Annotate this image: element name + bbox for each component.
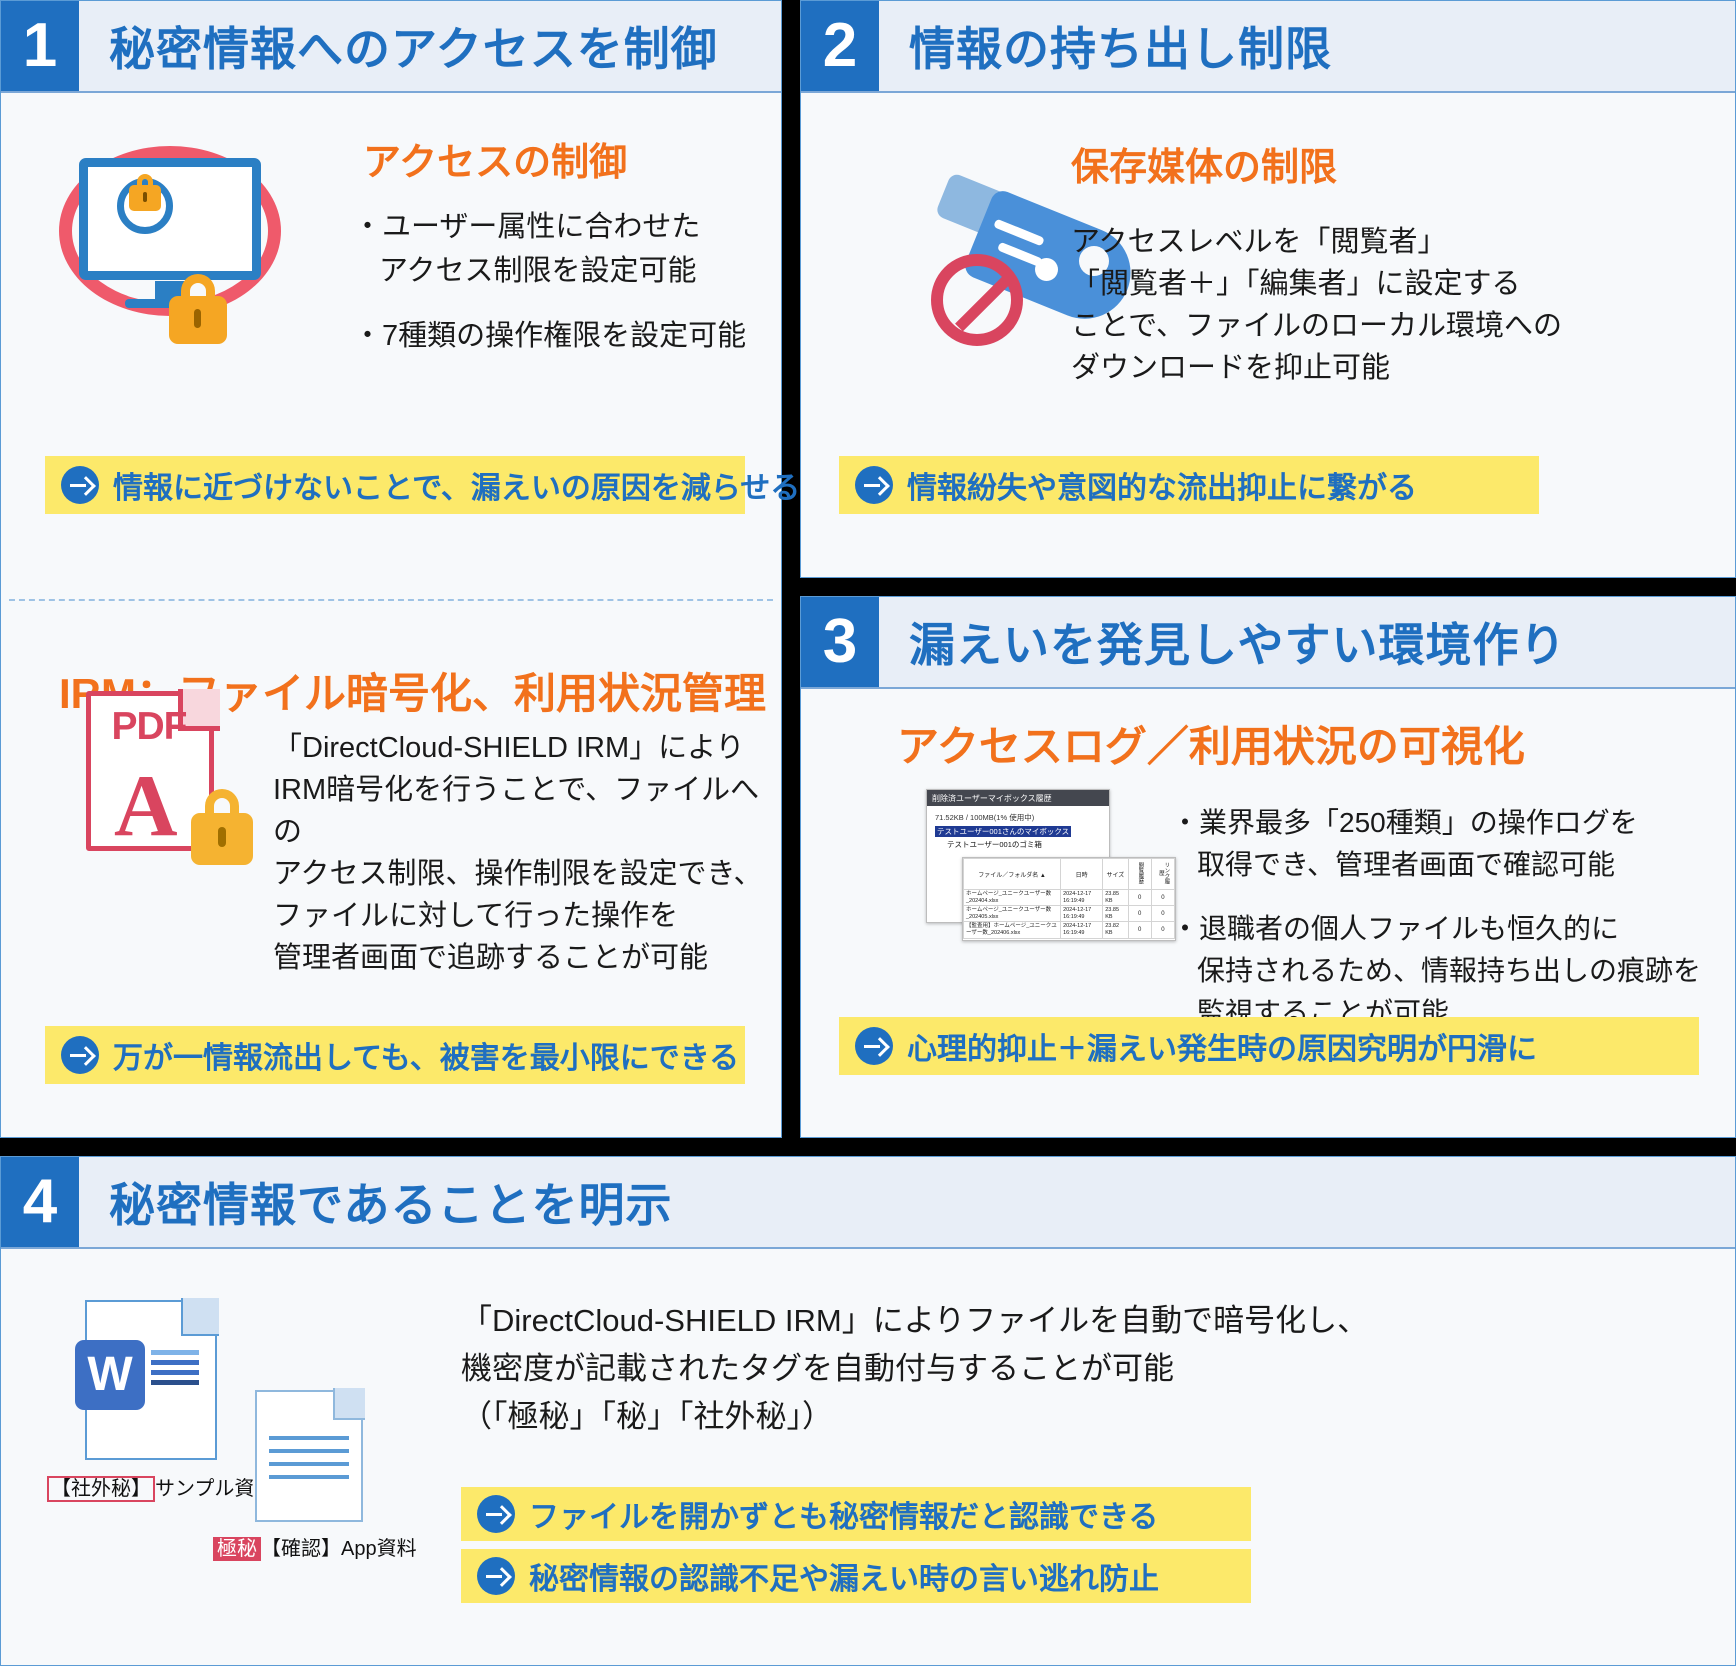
body-line: アクセスレベルを「閲覧者」 [1071,221,1631,263]
body-line: アクセス制限、操作制限を設定でき、 [273,853,773,895]
body-line: ダウンロードを抑止可能 [1071,347,1631,389]
panel-2-header: 2 情報の持ち出し制限 [801,1,1735,93]
panel-1a-callout: 情報に近づけないことで、漏えいの原因を減らせる [45,456,745,514]
section-divider [9,599,773,601]
bullet-line: ・業界最多「250種類」の操作ログを [1171,807,1638,838]
panel-1: 1 秘密情報へのアクセスを制御 アクセスの制御 ・ユーザー属性に合わせた アクセ… [0,0,782,1138]
col-date: 日時 [1061,859,1103,890]
document-2-caption: 極秘【確認】App資料 [213,1532,417,1561]
body-line: IRM暗号化を行うことで、ファイルへの [273,769,773,853]
body-line: 「DirectCloud-SHIELD IRM」によりファイルを自動で暗号化し、 [461,1297,1561,1345]
panel-3-callout-text: 心理的抑止＋漏えい発生時の原因究明が円滑に [907,1024,1537,1068]
lock-large-icon [169,296,227,344]
section-1b-body: 「DirectCloud-SHIELD IRM」により IRM暗号化を行うことで… [273,727,773,979]
bullet-line: ・ユーザー属性に合わせた [353,211,700,243]
bullet-item: ・退職者の個人ファイルも恒久的に 保持されるため、情報持ち出しの痕跡を 監視する… [1171,908,1721,1034]
panel-4-header: 4 秘密情報であることを明示 [1,1157,1735,1249]
cell-date: 2024-12-17 16:19:49 [1061,906,1103,922]
panel-3-callout: 心理的抑止＋漏えい発生時の原因究明が円滑に [839,1017,1699,1075]
panel-2-callout-text: 情報紛失や意図的な流出抑止に繋がる [907,463,1417,507]
body-line: ファイルに対して行った操作を [273,895,773,937]
pdf-glyph: A [114,763,178,851]
panel-2-body: アクセスレベルを「閲覧者」 「閲覧者＋」「編集者」に設定する ことで、ファイルの… [1071,221,1631,389]
cell-size: 23.85 KB [1103,906,1128,922]
panel-4-callout-2: 秘密情報の認識不足や漏えい時の言い逃れ防止 [461,1549,1251,1603]
bullet-line: 取得でき、管理者画面で確認可能 [1171,844,1721,886]
cell-name: ホームページ_ユニークユーザー数_202404.xlsx [964,890,1061,906]
body-line: （「極秘」「秘」「社外秘」） [461,1393,1561,1441]
cell-views: 0 [1128,906,1151,922]
body-line: 「DirectCloud-SHIELD IRM」により [273,727,773,769]
text-line [269,1449,349,1453]
confidential-tag: 【社外秘】 [47,1476,155,1502]
app-document-illustration: 極秘【確認】App資料 [255,1390,435,1570]
panel-3-bullets: ・業界最多「250種類」の操作ログを 取得でき、管理者画面で確認可能 ・退職者の… [1171,802,1721,1048]
panel-4-callouts: ファイルを開かずとも秘密情報だと認識できる 秘密情報の認識不足や漏えい時の言い逃… [461,1487,1251,1603]
bullet-line: 保持されるため、情報持ち出しの痕跡を [1171,950,1721,992]
col-views: 閲覧履歴 [1137,862,1143,884]
screenshot-table-window: ファイル／フォルダ名 ▲ 日時 サイズ 閲覧履歴 リンク履歴 ホームページ_ユニ… [962,857,1176,941]
panel-1-number: 1 [1,1,79,91]
panel-2-number: 2 [801,1,879,91]
document-text-lines [269,1436,349,1488]
screenshot-titlebar: 削除済ユーザーマイボックス履歴 [927,790,1109,806]
word-document-illustration: W 【社外秘】サンプル資料 [85,1300,275,1500]
screenshot-tree: テストユーザー001さんのマイボックス テストユーザー001のゴミ箱 [927,826,1109,850]
text-line [269,1475,349,1479]
document-1-caption: 【社外秘】サンプル資料 [47,1472,274,1501]
body-line: 機密度が記載されたタグを自動付与することが可能 [461,1345,1561,1393]
pdf-file-illustration: PDF A [86,691,296,921]
panel-4-body: 「DirectCloud-SHIELD IRM」によりファイルを自動で暗号化し、… [461,1297,1561,1441]
bullet-line: ・7種類の操作権限を設定可能 [353,320,746,352]
panel-2: 2 情報の持ち出し制限 保存媒体の制限 アクセスレベルを「閲覧者」 「閲覧者＋」… [800,0,1736,578]
bullet-item: ・ユーザー属性に合わせた アクセス制限を設定可能 [353,206,753,293]
lock-small-icon [129,185,161,211]
col-links: リンク履歴 [1157,860,1168,886]
usb-dot-shape [1035,258,1058,281]
top-secret-tag: 極秘 [213,1537,261,1561]
panel-2-subtitle: 保存媒体の制限 [1071,146,1337,192]
text-line [151,1360,199,1365]
arrow-right-icon [477,1495,515,1533]
panel-1-title: 秘密情報へのアクセスを制御 [79,1,781,91]
panel-3-header: 3 漏えいを発見しやすい環境作り [801,597,1735,689]
panel-1-header: 1 秘密情報へのアクセスを制御 [1,1,781,93]
table-row: ホームページ_ユニークユーザー数_202405.xlsx 2024-12-17 … [964,906,1175,922]
document-text-lines [151,1350,199,1390]
document-fold-shape [333,1388,365,1420]
text-line [269,1462,349,1466]
text-line [151,1350,199,1355]
cell-size: 23.82 KB [1103,922,1128,938]
document-2-name: 【確認】App資料 [261,1538,417,1560]
body-line: ことで、ファイルのローカル環境への [1071,305,1631,347]
body-line: 「閲覧者＋」「編集者」に設定する [1071,263,1631,305]
arrow-right-icon [477,1557,515,1595]
table-header-row: ファイル／フォルダ名 ▲ 日時 サイズ 閲覧履歴 リンク履歴 [964,859,1175,890]
cell-views: 0 [1128,922,1151,938]
section-1a-bullets: ・ユーザー属性に合わせた アクセス制限を設定可能 ・7種類の操作権限を設定可能 [353,206,753,373]
cell-name: 【監査用】ホームページ_ユニークユーザー数_202406.xlsx [964,922,1061,938]
text-line [151,1370,199,1375]
body-line: 管理者画面で追跡することが可能 [273,937,773,979]
panel-4-callout-1: ファイルを開かずとも秘密情報だと認識できる [461,1487,1251,1541]
prohibition-icon [931,254,1023,346]
arrow-right-icon [61,466,99,504]
panel-3-title: 漏えいを発見しやすい環境作り [879,597,1735,687]
col-size: サイズ [1103,859,1128,890]
panel-1b-callout: 万が一情報流出しても、被害を最小限にできる [45,1026,745,1084]
cell-date: 2024-12-17 16:19:49 [1061,890,1103,906]
panel-4-number: 4 [1,1157,79,1247]
infographic-canvas: 1 秘密情報へのアクセスを制御 アクセスの制御 ・ユーザー属性に合わせた アクセ… [0,0,1736,1666]
pdf-lock-icon [191,813,253,865]
tree-node-root: テストユーザー001さんのマイボックス [935,826,1071,837]
panel-4-callout-1-text: ファイルを開かずとも秘密情報だと認識できる [529,1492,1158,1536]
cell-views: 0 [1128,890,1151,906]
arrow-right-icon [855,1027,893,1065]
col-name: ファイル／フォルダ名 ▲ [964,859,1061,890]
arrow-right-icon [61,1036,99,1074]
pdf-label: PDF [90,705,208,749]
table-row: ホームページ_ユニークユーザー数_202404.xlsx 2024-12-17 … [964,890,1175,906]
word-icon: W [75,1340,145,1410]
panel-4-callout-2-text: 秘密情報の認識不足や漏えい時の言い逃れ防止 [529,1554,1159,1598]
bullet-line: ・退職者の個人ファイルも恒久的に [1171,913,1619,944]
text-line [269,1436,349,1440]
text-line [151,1380,199,1385]
bullet-item: ・7種類の操作権限を設定可能 [353,315,753,359]
admin-console-screenshot: 削除済ユーザーマイボックス履歴 71.52KB / 100MB(1% 使用中) … [926,789,1176,939]
panel-3-number: 3 [801,597,879,687]
document-fold-shape [181,1298,219,1336]
bullet-line: アクセス制限を設定可能 [353,250,753,294]
panel-3: 3 漏えいを発見しやすい環境作り アクセスログ／利用状況の可視化 削除済ユーザー… [800,596,1736,1138]
bullet-item: ・業界最多「250種類」の操作ログを 取得でき、管理者画面で確認可能 [1171,802,1721,886]
screenshot-usage-text: 71.52KB / 100MB(1% 使用中) [927,806,1109,826]
panel-2-title: 情報の持ち出し制限 [879,1,1735,91]
panel-4-title: 秘密情報であることを明示 [79,1157,1735,1247]
arrow-right-icon [855,466,893,504]
section-1a-subtitle: アクセスの制御 [363,141,627,187]
access-control-illustration [51,136,291,376]
panel-3-subtitle: アクセスログ／利用状況の可視化 [897,722,1525,772]
cell-date: 2024-12-17 16:19:49 [1061,922,1103,938]
cell-size: 23.85 KB [1103,890,1128,906]
panel-2-callout: 情報紛失や意図的な流出抑止に繋がる [839,456,1539,514]
screenshot-file-table: ファイル／フォルダ名 ▲ 日時 サイズ 閲覧履歴 リンク履歴 ホームページ_ユニ… [963,858,1175,939]
monitor-icon [79,158,261,280]
cell-name: ホームページ_ユニークユーザー数_202405.xlsx [964,906,1061,922]
tree-node-trash: テストユーザー001のゴミ箱 [935,839,1109,850]
table-row: 【監査用】ホームページ_ユニークユーザー数_202406.xlsx 2024-1… [964,922,1175,938]
panel-1a-callout-text: 情報に近づけないことで、漏えいの原因を減らせる [113,463,800,507]
panel-1b-callout-text: 万が一情報流出しても、被害を最小限にできる [113,1033,739,1077]
